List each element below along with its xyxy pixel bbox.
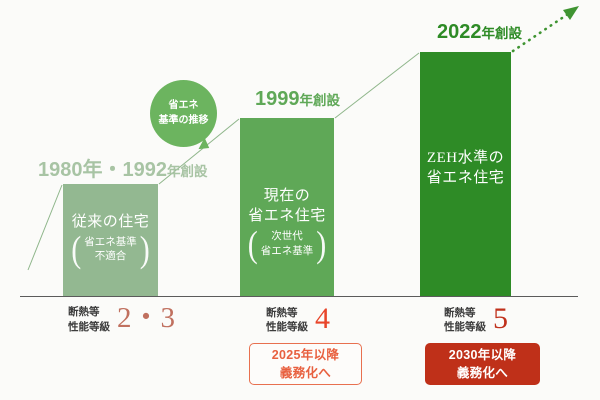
grade-label-bar-2-caption: 断熱等 性能等級 — [266, 306, 308, 334]
speech-bubble-label: 省エネ 基準の推移 — [159, 99, 209, 128]
trend-arrow-dotted — [513, 6, 579, 51]
grade-label-bar-2-value: 4 — [315, 304, 330, 334]
energy-standard-chart: 省エネ 基準の推移 1980年・1992年創設 1999年創設 2022年創設 … — [0, 0, 600, 400]
grade-label-bar-1: 断熱等 性能等級 2・3 — [68, 305, 175, 334]
bar-1-subgroup: ( 省エネ基準 不適合 ) — [71, 235, 150, 265]
year-label-bar-2-number: 1999 — [255, 88, 300, 110]
bar-2-subtitle: 次世代 省エネ基準 — [258, 230, 317, 259]
bar-2-subgroup: ( 次世代 省エネ基準 ) — [248, 230, 327, 260]
year-label-bar-3-number: 2022 — [437, 21, 482, 43]
speech-bubble-energy-standard-trend: 省エネ 基準の推移 — [150, 80, 217, 147]
axis-baseline — [20, 296, 578, 297]
year-label-bar-1-suffix: 年創設 — [167, 164, 208, 179]
bar-2-paren-close: ) — [316, 226, 326, 264]
bar-1-title: 従来の住宅 — [72, 212, 150, 232]
year-label-bar-3: 2022年創設 — [437, 21, 522, 44]
bar-conventional-housing: 従来の住宅 ( 省エネ基準 不適合 ) — [63, 184, 158, 296]
bar-1-subtitle: 省エネ基準 不適合 — [81, 236, 140, 265]
bar-2-title: 現在の 省エネ住宅 — [248, 186, 326, 227]
grade-label-bar-1-caption: 断熱等 性能等級 — [68, 305, 110, 333]
bar-1-paren-open: ( — [71, 232, 81, 270]
grade-label-bar-3-caption: 断熱等 性能等級 — [444, 306, 486, 334]
obligation-box-2025: 2025年以降 義務化へ — [249, 343, 362, 385]
grade-label-bar-3-value: 5 — [493, 304, 508, 334]
grade-label-bar-1-value: 2・3 — [117, 304, 175, 333]
year-label-bar-3-suffix: 年創設 — [482, 26, 523, 41]
speech-bubble-tail-icon — [198, 138, 212, 154]
grade-label-bar-3: 断熱等 性能等級 5 — [444, 305, 508, 335]
bar-zeh-level-energy-saving-housing: ZEH水準の 省エネ住宅 — [420, 52, 511, 296]
bar-2-paren-open: ( — [248, 226, 258, 264]
obligation-box-2030: 2030年以降 義務化へ — [425, 343, 540, 385]
year-label-bar-2: 1999年創設 — [255, 88, 340, 111]
connector-segment-0 — [28, 185, 62, 270]
year-label-bar-1: 1980年・1992年創設 — [38, 153, 207, 182]
bar-3-title: ZEH水準の 省エネ住宅 — [427, 148, 505, 189]
year-label-bar-2-suffix: 年創設 — [300, 93, 341, 108]
bar-1-paren-close: ) — [140, 232, 150, 270]
year-label-bar-1-number: 1980年・1992 — [38, 159, 167, 181]
bar-current-energy-saving-housing: 現在の 省エネ住宅 ( 次世代 省エネ基準 ) — [240, 118, 334, 296]
grade-label-bar-2: 断熱等 性能等級 4 — [266, 305, 330, 335]
connector-segment-2 — [335, 53, 419, 118]
